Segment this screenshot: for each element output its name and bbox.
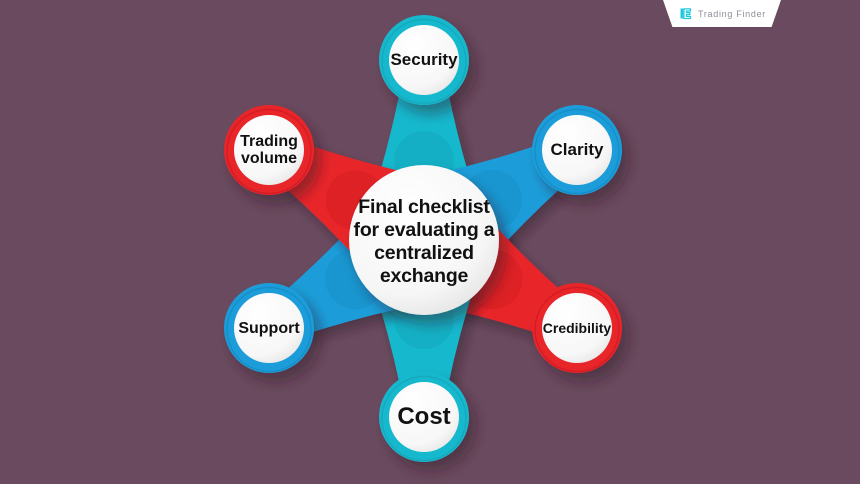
node-support[interactable] — [224, 283, 314, 373]
infographic-canvas: Final checklist for evaluating a central… — [0, 0, 860, 484]
node-clarity[interactable] — [532, 105, 622, 195]
node-credibility[interactable] — [532, 283, 622, 373]
node-cost[interactable] — [379, 372, 469, 462]
node-security[interactable] — [379, 15, 469, 105]
hub-center-label: Final checklist for evaluating a central… — [349, 196, 499, 288]
watermark-brand-text: Trading Finder — [698, 9, 766, 19]
watermark-badge: Trading Finder — [663, 0, 781, 27]
trading-finder-logo-icon — [678, 6, 693, 21]
node-trading-volume[interactable] — [224, 105, 314, 195]
